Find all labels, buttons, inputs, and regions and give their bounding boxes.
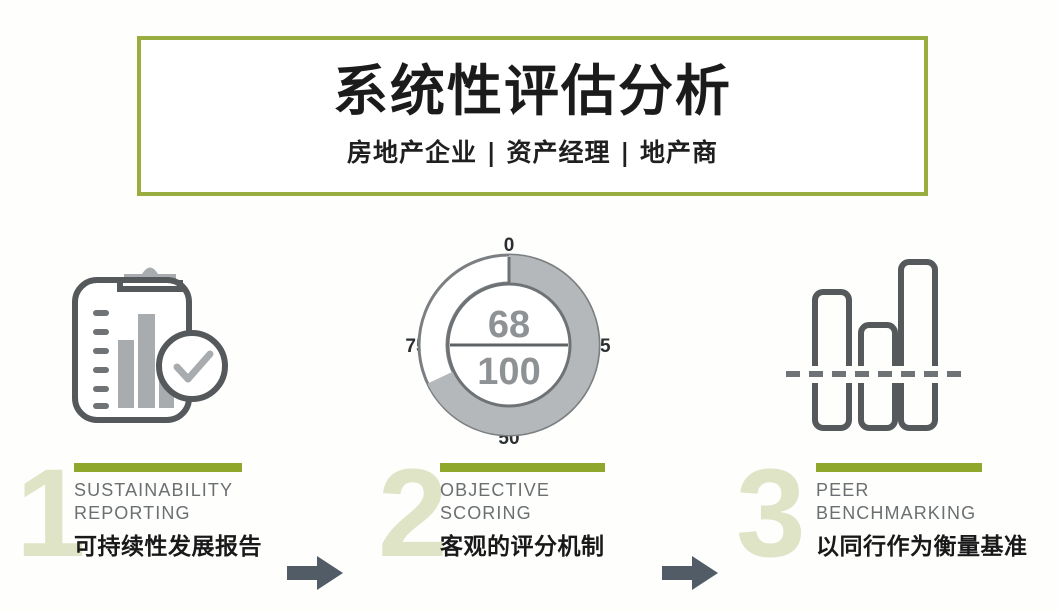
gauge-value: 68	[488, 304, 530, 346]
header-banner: 系统性评估分析 房地产企业 | 资产经理 | 地产商	[137, 36, 928, 196]
accent-bar-1	[74, 463, 242, 472]
gauge-score-icon: 0 25 50 75 68 100	[388, 236, 630, 453]
step-en-line2-1: REPORTING	[74, 502, 262, 525]
step-body-3: PEER BENCHMARKING 以同行作为衡量基准	[816, 463, 1028, 561]
gauge-max: 100	[477, 351, 540, 393]
steps-row: 1 SUSTAINABILITY REPORTING 可持续性发展报告 2 OB…	[0, 455, 1060, 612]
step-body-2: OBJECTIVE SCORING 客观的评分机制	[440, 463, 605, 561]
step-zh-2: 客观的评分机制	[440, 527, 605, 561]
accent-bar-3	[816, 463, 982, 472]
step-zh-1: 可持续性发展报告	[74, 527, 262, 561]
accent-bar-2	[440, 463, 605, 472]
step-number-3: 3	[736, 451, 802, 576]
process-icon-row: 0 25 50 75 68 100	[0, 232, 1060, 452]
step-en-line2-2: SCORING	[440, 502, 605, 525]
clipboard-report-icon	[62, 250, 238, 441]
step-number-2: 2	[378, 451, 444, 576]
page-subtitle: 房地产企业 | 资产经理 | 地产商	[347, 133, 718, 169]
step-en-line2-3: BENCHMARKING	[816, 502, 1028, 525]
step-body-1: SUSTAINABILITY REPORTING 可持续性发展报告	[74, 463, 262, 561]
page-title: 系统性评估分析	[333, 63, 732, 121]
step-zh-3: 以同行作为衡量基准	[816, 527, 1028, 561]
step-en-line1-3: PEER	[816, 479, 1028, 502]
benchmark-bars-icon	[782, 250, 968, 451]
step-en-line1-2: OBJECTIVE	[440, 479, 605, 502]
gauge-tick-top: 0	[504, 236, 515, 256]
step-en-line1-1: SUSTAINABILITY	[74, 479, 262, 502]
step-number-1: 1	[16, 451, 82, 576]
